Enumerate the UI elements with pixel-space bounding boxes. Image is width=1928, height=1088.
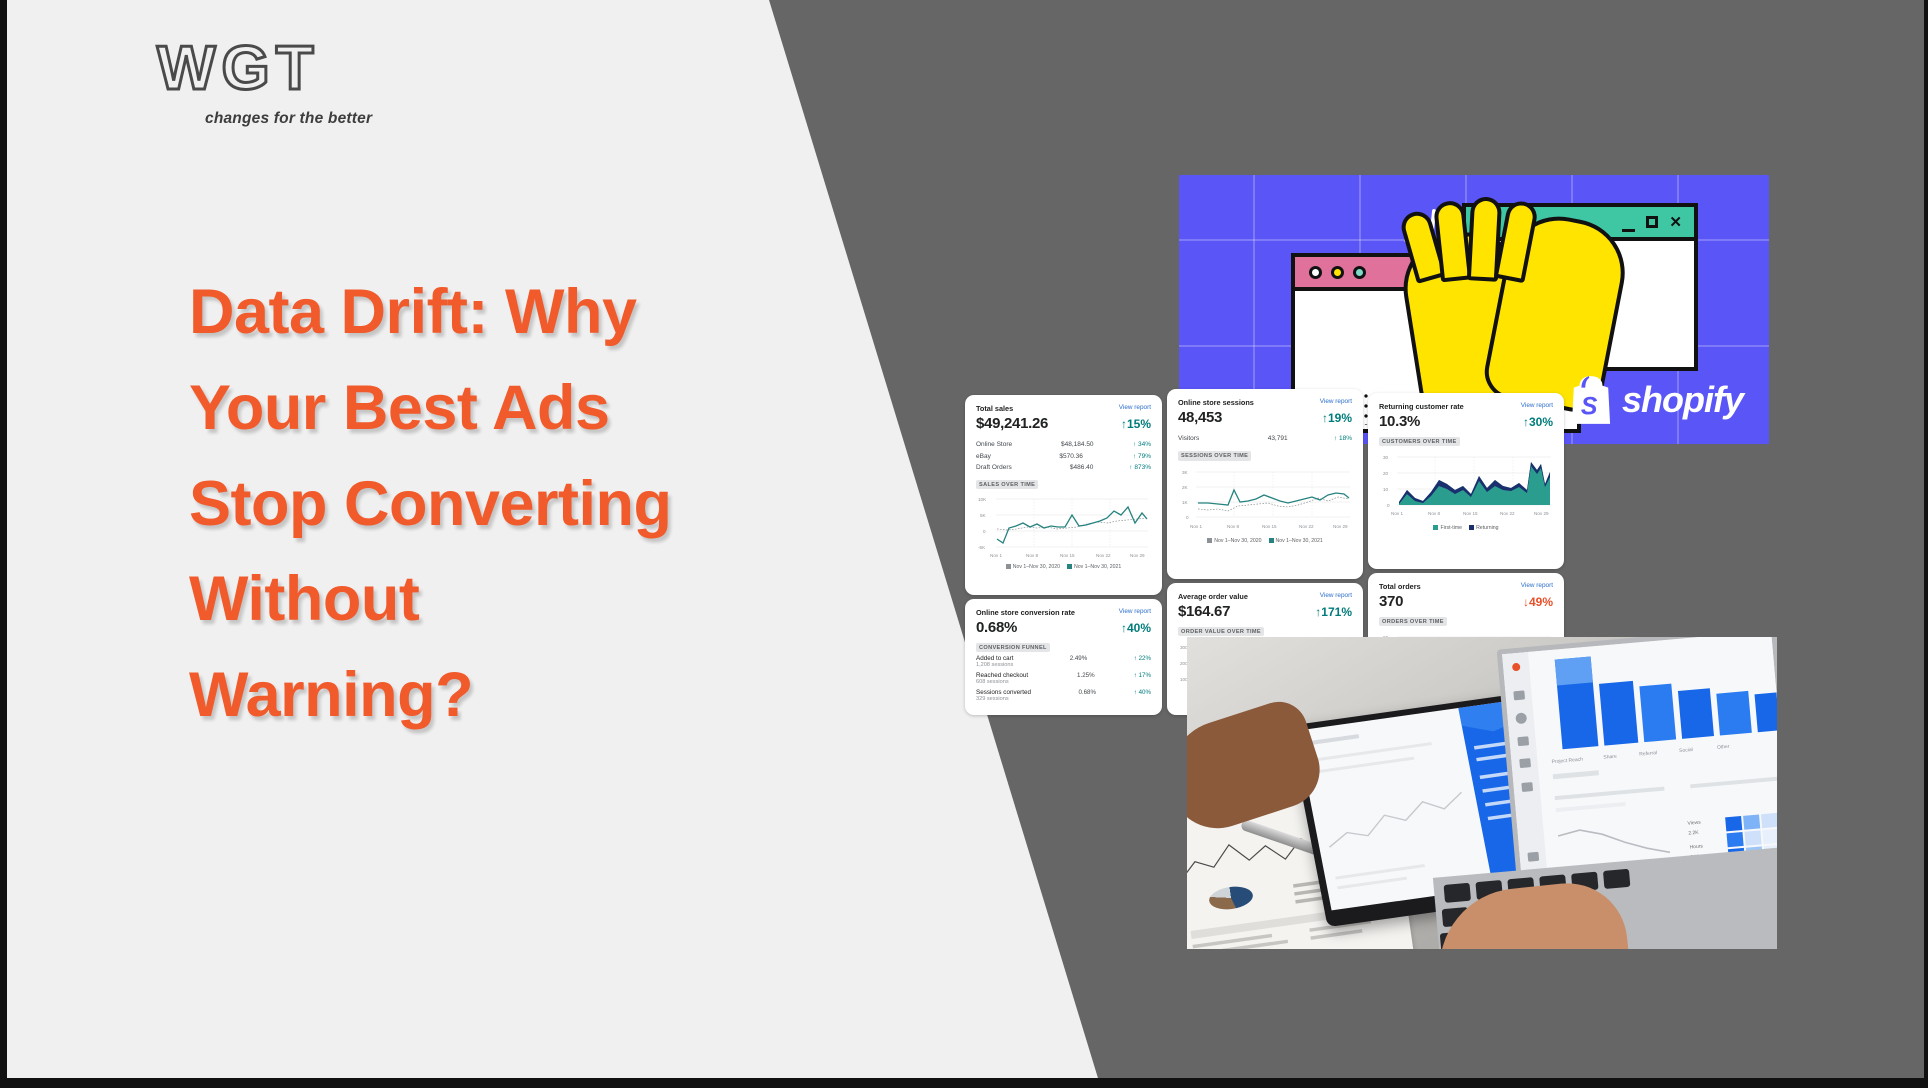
view-report-link[interactable]: View report	[1320, 398, 1352, 405]
svg-text:Nov 1: Nov 1	[990, 553, 1002, 558]
svg-text:2K: 2K	[1182, 485, 1189, 490]
svg-text:3K: 3K	[1182, 470, 1189, 475]
funnel-sessions: 329 sessions	[976, 696, 1031, 702]
card-title: Total sales	[976, 404, 1013, 413]
section-label: CUSTOMERS OVER TIME	[1379, 437, 1460, 446]
maximize-icon[interactable]	[1646, 216, 1658, 228]
funnel-row: Sessions converted 329 sessions 0.68% ↑ …	[976, 686, 1151, 703]
row-change: ↑ 34%	[1117, 441, 1151, 448]
funnel-pct: 0.68%	[1054, 689, 1096, 696]
headline-line-1: Data Drift: Why	[189, 265, 889, 361]
svg-text:Nov 15: Nov 15	[1463, 511, 1478, 516]
table-row: Draft Orders $486.40 ↑ 873%	[976, 462, 1151, 473]
logo-tagline: changes for the better	[205, 110, 377, 128]
row-label: eBay	[976, 453, 991, 460]
legend-first-time: First-time	[1433, 525, 1462, 531]
funnel-name: Added to cart	[976, 655, 1013, 662]
card-total-sales: Total sales View report $49,241.26 ↑15% …	[965, 395, 1162, 595]
window-dot-icon[interactable]	[1353, 266, 1366, 279]
chart-sessions-over-time: 3K2K1K0 Nov 1Nov 8Nov 15 Nov 22Nov 29	[1178, 465, 1352, 535]
table-row: eBay $570.36 ↑ 79%	[976, 450, 1151, 461]
svg-text:Nov 8: Nov 8	[1428, 511, 1440, 516]
funnel-sessions: 1,208 sessions	[976, 662, 1013, 668]
card-delta: ↑30%	[1523, 415, 1553, 429]
laptop-analytics-photo: Project ReachShare ReferralSocialOther V…	[1187, 637, 1777, 949]
legend-current: Nov 1–Nov 30, 2021	[1269, 538, 1323, 544]
row-label: Visitors	[1178, 435, 1199, 442]
chart-legend: Nov 1–Nov 30, 2020 Nov 1–Nov 30, 2021	[976, 564, 1151, 570]
view-report-link[interactable]: View report	[1320, 592, 1352, 599]
svg-text:-5K: -5K	[978, 545, 986, 550]
card-value: 10.3%	[1379, 413, 1420, 430]
row-change: ↑ 873%	[1117, 464, 1151, 471]
close-icon[interactable]: ✕	[1669, 215, 1682, 230]
card-title: Online store sessions	[1178, 398, 1254, 407]
funnel-row: Added to cart 1,208 sessions 2.49% ↑ 22%	[976, 652, 1151, 669]
row-value: $486.40	[1035, 464, 1093, 471]
card-title: Average order value	[1178, 592, 1248, 601]
row-change: ↑ 79%	[1117, 453, 1151, 460]
row-label: Online Store	[976, 441, 1012, 448]
funnel-pct: 1.25%	[1053, 672, 1095, 679]
chart-legend: Nov 1–Nov 30, 2020 Nov 1–Nov 30, 2021	[1178, 538, 1352, 544]
section-label: ORDERS OVER TIME	[1379, 617, 1447, 626]
svg-text:10: 10	[1383, 487, 1389, 492]
svg-text:Nov 1: Nov 1	[1391, 511, 1403, 516]
svg-text:Views: Views	[1687, 820, 1701, 827]
section-label: ORDER VALUE OVER TIME	[1178, 627, 1264, 636]
row-value: $48,184.50	[1036, 441, 1094, 448]
svg-text:Nov 8: Nov 8	[1227, 524, 1239, 529]
svg-text:Nov 22: Nov 22	[1500, 511, 1515, 516]
funnel-name: Reached checkout	[976, 672, 1028, 679]
section-label: SALES OVER TIME	[976, 480, 1038, 489]
card-delta: ↑19%	[1322, 411, 1352, 425]
chart-sales-over-time: 10K5K0-5K Nov 1Nov 8Nov 15 Nov 22Nov 29	[976, 493, 1151, 561]
funnel-sessions: 608 sessions	[976, 679, 1028, 685]
svg-text:20: 20	[1383, 471, 1389, 476]
legend-current: Nov 1–Nov 30, 2021	[1067, 564, 1121, 570]
svg-text:Nov 8: Nov 8	[1026, 553, 1038, 558]
logo-wordmark: WGT	[157, 38, 377, 100]
view-report-link[interactable]: View report	[1521, 402, 1553, 409]
card-delta: ↑40%	[1121, 621, 1151, 635]
legend-previous: Nov 1–Nov 30, 2020	[1006, 564, 1060, 570]
minimize-icon[interactable]	[1622, 229, 1635, 232]
funnel-row: Reached checkout 608 sessions 1.25% ↑ 17…	[976, 669, 1151, 686]
shopify-bag-icon: S	[1570, 376, 1612, 424]
card-value: 48,453	[1178, 409, 1222, 426]
svg-text:0: 0	[983, 529, 986, 534]
view-report-link[interactable]: View report	[1119, 404, 1151, 411]
svg-text:Nov 15: Nov 15	[1060, 553, 1075, 558]
card-delta: ↓49%	[1523, 595, 1553, 609]
window-dot-icon[interactable]	[1309, 266, 1322, 279]
view-report-link[interactable]: View report	[1119, 608, 1151, 615]
card-value: $49,241.26	[976, 415, 1048, 432]
svg-text:Nov 29: Nov 29	[1130, 553, 1145, 558]
svg-text:Nov 15: Nov 15	[1262, 524, 1277, 529]
svg-text:Social: Social	[1679, 747, 1693, 754]
page-title: Data Drift: Why Your Best Ads Stop Conve…	[189, 265, 889, 744]
chart-customers-over-time: 3020100 Nov 1Nov 8Nov 15 Nov 22Nov 29	[1379, 450, 1553, 522]
svg-text:S: S	[1581, 393, 1598, 420]
shopify-logo: S shopify	[1570, 376, 1743, 424]
card-value: 370	[1379, 593, 1403, 610]
headline-line-4: Without	[189, 552, 889, 648]
shopify-wordmark: shopify	[1622, 379, 1743, 421]
card-online-store-sessions: Online store sessions View report 48,453…	[1167, 389, 1363, 579]
svg-text:Nov 1: Nov 1	[1190, 524, 1202, 529]
svg-text:10K: 10K	[978, 497, 987, 502]
card-title: Online store conversion rate	[976, 608, 1075, 617]
section-label: CONVERSION FUNNEL	[976, 643, 1050, 652]
card-delta: ↑171%	[1315, 605, 1352, 619]
svg-text:1K: 1K	[1182, 500, 1189, 505]
svg-text:2.2K: 2.2K	[1688, 830, 1699, 837]
card-title: Total orders	[1379, 582, 1421, 591]
svg-text:Other: Other	[1717, 744, 1730, 751]
row-label: Draft Orders	[976, 464, 1012, 471]
legend-previous: Nov 1–Nov 30, 2020	[1207, 538, 1261, 544]
card-returning-customer-rate: Returning customer rate View report 10.3…	[1368, 393, 1564, 569]
row-change: ↑ 18%	[1318, 435, 1352, 442]
svg-text:Nov 22: Nov 22	[1299, 524, 1314, 529]
section-label: SESSIONS OVER TIME	[1178, 451, 1251, 460]
funnel-change: ↑ 40%	[1119, 689, 1151, 696]
poster-canvas: WGT changes for the better Data Drift: W…	[0, 0, 1928, 1088]
chart-legend: First-time Returning	[1379, 525, 1553, 531]
row-value: 43,791	[1230, 435, 1288, 442]
card-delta: ↑15%	[1121, 417, 1151, 431]
funnel-change: ↑ 22%	[1119, 655, 1151, 662]
table-row: Visitors 43,791 ↑ 18%	[1178, 433, 1352, 444]
funnel-name: Sessions converted	[976, 689, 1031, 696]
card-online-store-conversion-rate: Online store conversion rate View report…	[965, 599, 1162, 715]
brand-logo: WGT changes for the better	[157, 38, 377, 128]
headline-line-3: Stop Converting	[189, 457, 889, 553]
svg-text:Hours: Hours	[1689, 843, 1703, 850]
headline-line-5: Warning?	[189, 648, 889, 744]
view-report-link[interactable]: View report	[1521, 582, 1553, 589]
legend-returning: Returning	[1469, 525, 1499, 531]
card-value: 0.68%	[976, 619, 1017, 636]
svg-text:Nov 29: Nov 29	[1534, 511, 1549, 516]
svg-text:Nov 29: Nov 29	[1333, 524, 1348, 529]
row-value: $570.36	[1025, 453, 1083, 460]
card-value: $164.67	[1178, 603, 1230, 620]
funnel-pct: 2.49%	[1045, 655, 1087, 662]
funnel-change: ↑ 17%	[1119, 672, 1151, 679]
table-row: Online Store $48,184.50 ↑ 34%	[976, 439, 1151, 450]
svg-text:0: 0	[1387, 503, 1390, 508]
headline-line-2: Your Best Ads	[189, 361, 889, 457]
window-dot-icon[interactable]	[1331, 266, 1344, 279]
svg-text:0: 0	[1186, 515, 1189, 520]
svg-text:5K: 5K	[980, 513, 987, 518]
card-title: Returning customer rate	[1379, 402, 1464, 411]
svg-text:Nov 22: Nov 22	[1096, 553, 1111, 558]
svg-text:30: 30	[1383, 455, 1389, 460]
svg-text:Share: Share	[1603, 754, 1617, 761]
